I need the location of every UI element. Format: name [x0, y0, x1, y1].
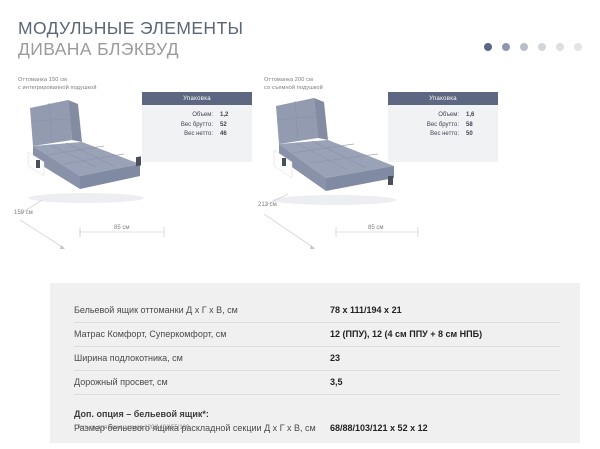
- packaging-value-volume-2: 1,6: [459, 111, 488, 121]
- packaging-label-volume-2: Объем:: [438, 111, 459, 121]
- ottoman-150-width-label: 85 см: [110, 225, 133, 231]
- product-2-caption-line-2: со съемной подушкой: [264, 84, 323, 92]
- packaging-label-net-2: Вес нетто:: [430, 130, 459, 140]
- pagination-dot-3[interactable]: [520, 43, 528, 51]
- packaging-row-net-1: Вес нетто: 46: [148, 130, 242, 140]
- packaging-value-net-1: 46: [213, 130, 242, 140]
- packaging-row-net-2: Вес нетто: 50: [394, 130, 488, 140]
- additional-option-value: 68/88/103/121 x 52 x 12: [328, 407, 560, 435]
- page-title: МОДУЛЬНЫЕ ЭЛЕМЕНТЫ ДИВАНА БЛЭКВУД: [18, 18, 243, 60]
- product-card-ottoman-200: Оттоманка 200 см со съемной подушкой: [258, 72, 508, 252]
- page-header: МОДУЛЬНЫЕ ЭЛЕМЕНТЫ ДИВАНА БЛЭКВУД: [0, 0, 600, 70]
- spec-label-linen-box: Бельевой ящик оттоманки Д х Г х В, см: [74, 304, 328, 317]
- ottoman-150-depth-label: 159 см: [14, 210, 33, 216]
- product-1-caption-line-2: с интегрированной подушкой: [18, 84, 97, 92]
- packaging-value-gross-2: 58: [459, 121, 488, 131]
- packaging-label-volume-1: Объем:: [192, 111, 213, 121]
- spec-label-ground-clearance: Дорожный просвет, см: [74, 376, 328, 389]
- packaging-box-ottoman-200: Упаковка Объем: 1,6 Вес брутто: 58 Вес н…: [388, 92, 498, 162]
- page-title-line-1: МОДУЛЬНЫЕ ЭЛЕМЕНТЫ: [18, 18, 243, 39]
- ottoman-200-illustration: [262, 94, 402, 214]
- packaging-row-gross-1: Вес брутто: 52: [148, 121, 242, 131]
- product-2-caption-line-1: Оттоманка 200 см: [264, 76, 323, 84]
- spec-label-mattress: Матрас Комфорт, Суперкомфорт, см: [74, 328, 328, 341]
- packaging-row-gross-2: Вес брутто: 58: [394, 121, 488, 131]
- product-1-caption: Оттоманка 150 см с интегрированной подуш…: [18, 76, 97, 92]
- specifications-panel: Бельевой ящик оттоманки Д х Г х В, см 78…: [50, 283, 580, 443]
- ottoman-200-depth-label: 213 см: [258, 202, 277, 208]
- table-row: Ширина подлокотника, см 23: [74, 347, 560, 371]
- additional-option-title: Доп. опция – бельевой ящик*:: [74, 407, 328, 421]
- packaging-label-gross-2: Вес брутто:: [427, 121, 459, 131]
- specifications-footnote: *Только для механизмов 120/140/155/180: [74, 425, 189, 431]
- table-row: Дорожный просвет, см 3,5: [74, 371, 560, 395]
- packaging-label-net-1: Вес нетто:: [184, 130, 213, 140]
- product-card-ottoman-150: Оттоманка 150 см с интегрированной подуш…: [12, 72, 262, 252]
- packaging-rows-2: Объем: 1,6 Вес брутто: 58 Вес нетто: 50: [388, 105, 498, 140]
- packaging-value-volume-1: 1,2: [213, 111, 242, 121]
- pagination-dot-2[interactable]: [502, 43, 510, 51]
- packaging-value-gross-1: 52: [213, 121, 242, 131]
- spec-value-ground-clearance: 3,5: [328, 376, 560, 389]
- packaging-rows-1: Объем: 1,2 Вес брутто: 52 Вес нетто: 46: [142, 105, 252, 140]
- spec-label-armrest-width: Ширина подлокотника, см: [74, 352, 328, 365]
- table-row: Бельевой ящик оттоманки Д х Г х В, см 78…: [74, 299, 560, 323]
- spec-value-linen-box: 78 x 111/194 x 21: [328, 304, 560, 317]
- product-1-caption-line-1: Оттоманка 150 см: [18, 76, 97, 84]
- spec-value-armrest-width: 23: [328, 352, 560, 365]
- table-row: Матрас Комфорт, Суперкомфорт, см 12 (ППУ…: [74, 323, 560, 347]
- packaging-header-2: Упаковка: [388, 92, 498, 105]
- additional-option-row: Доп. опция – бельевой ящик*: Размер бель…: [74, 407, 560, 439]
- packaging-box-ottoman-150: Упаковка Объем: 1,2 Вес брутто: 52 Вес н…: [142, 92, 252, 162]
- ottoman-200-width-label: 85 см: [364, 225, 387, 231]
- packaging-header-1: Упаковка: [142, 92, 252, 105]
- packaging-row-volume-1: Объем: 1,2: [148, 111, 242, 121]
- packaging-label-gross-1: Вес брутто:: [181, 121, 213, 131]
- packaging-row-volume-2: Объем: 1,6: [394, 111, 488, 121]
- specifications-table: Бельевой ящик оттоманки Д х Г х В, см 78…: [74, 299, 560, 439]
- pagination-dot-5[interactable]: [556, 43, 564, 51]
- packaging-value-net-2: 50: [459, 130, 488, 140]
- pagination-dot-6[interactable]: [574, 43, 582, 51]
- pagination-dot-1[interactable]: [484, 43, 492, 51]
- pagination-dot-4[interactable]: [538, 43, 546, 51]
- ottoman-150-illustration: [16, 94, 156, 214]
- spec-value-mattress: 12 (ППУ), 12 (4 см ППУ + 8 см НПБ): [328, 328, 560, 341]
- pagination-dots[interactable]: [484, 43, 582, 51]
- page-title-line-2: ДИВАНА БЛЭКВУД: [18, 39, 243, 60]
- product-2-caption: Оттоманка 200 см со съемной подушкой: [264, 76, 323, 92]
